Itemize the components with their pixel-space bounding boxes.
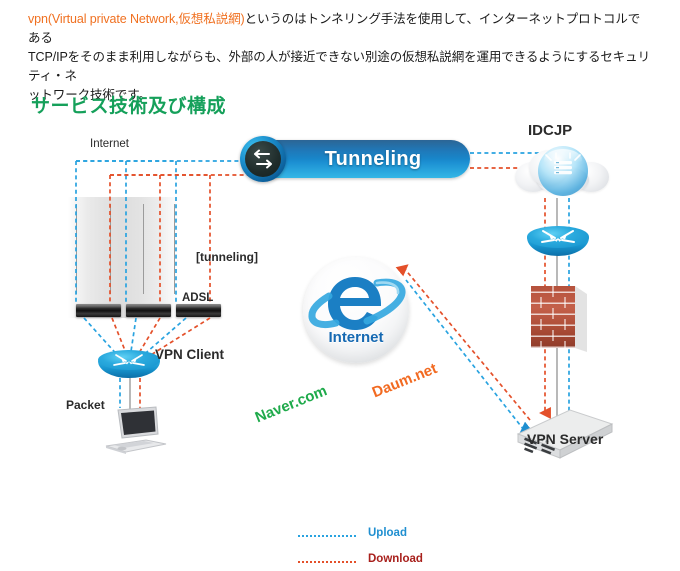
portal-daum: Daum.net <box>370 360 440 401</box>
legend-label-download: Download <box>368 553 423 565</box>
bidirectional-arrows-icon[interactable] <box>240 136 286 182</box>
idcjp-cloud[interactable] <box>515 142 609 200</box>
label-tunneling-note: [tunneling] <box>196 250 258 264</box>
router-arrows-icon <box>98 350 160 378</box>
label-idcjp: IDCJP <box>528 122 572 139</box>
tunnel-panel <box>68 197 178 318</box>
core-router[interactable] <box>527 226 589 256</box>
legend-label-upload: Upload <box>368 527 407 539</box>
tunnel-inner-line <box>174 204 175 294</box>
label-vpn-server: VPN Server <box>527 431 603 447</box>
label-packet: Packet <box>66 398 105 412</box>
label-internet: Internet <box>90 138 129 150</box>
internet-node[interactable]: Internet <box>303 257 409 363</box>
laptop[interactable] <box>96 406 170 456</box>
knob-inner <box>245 141 281 177</box>
legend-swatch-upload <box>298 535 356 537</box>
intro-highlight: vpn(Virtual private Network,仮想私説網) <box>28 12 245 26</box>
vpn-client-router[interactable] <box>98 350 160 378</box>
section-heading: サービス技術及び構成 <box>31 91 226 118</box>
legend-swatch-download <box>298 561 356 563</box>
tunnel-inner-line <box>76 204 77 294</box>
page-root: vpn(Virtual private Network,仮想私説網)というのはト… <box>0 0 680 474</box>
label-vpn-client: VPN Client <box>155 347 224 362</box>
brick-detail <box>531 286 593 358</box>
cloud-server-icon <box>515 142 609 200</box>
tunnel-inner-line <box>110 204 111 294</box>
internet-explorer-icon <box>303 257 409 363</box>
adsl-modem <box>76 304 121 317</box>
firewall[interactable] <box>531 286 575 348</box>
network-diagram: Tunneling <box>0 120 680 474</box>
intro-line2: TCP/IPをそのまま利用しながらも、外部の人が接近できない別途の仮想私説網を運… <box>28 50 650 83</box>
internet-node-label: Internet <box>303 329 409 346</box>
tunnel-inner-line <box>143 204 144 294</box>
label-adsl: ADSL <box>182 292 213 304</box>
laptop-glyph <box>96 406 170 456</box>
portal-naver: Naver.com <box>253 382 330 426</box>
arrows-glyph <box>245 141 281 177</box>
adsl-modem <box>176 304 221 317</box>
adsl-modem <box>126 304 171 317</box>
router-arrows-icon <box>527 226 589 256</box>
